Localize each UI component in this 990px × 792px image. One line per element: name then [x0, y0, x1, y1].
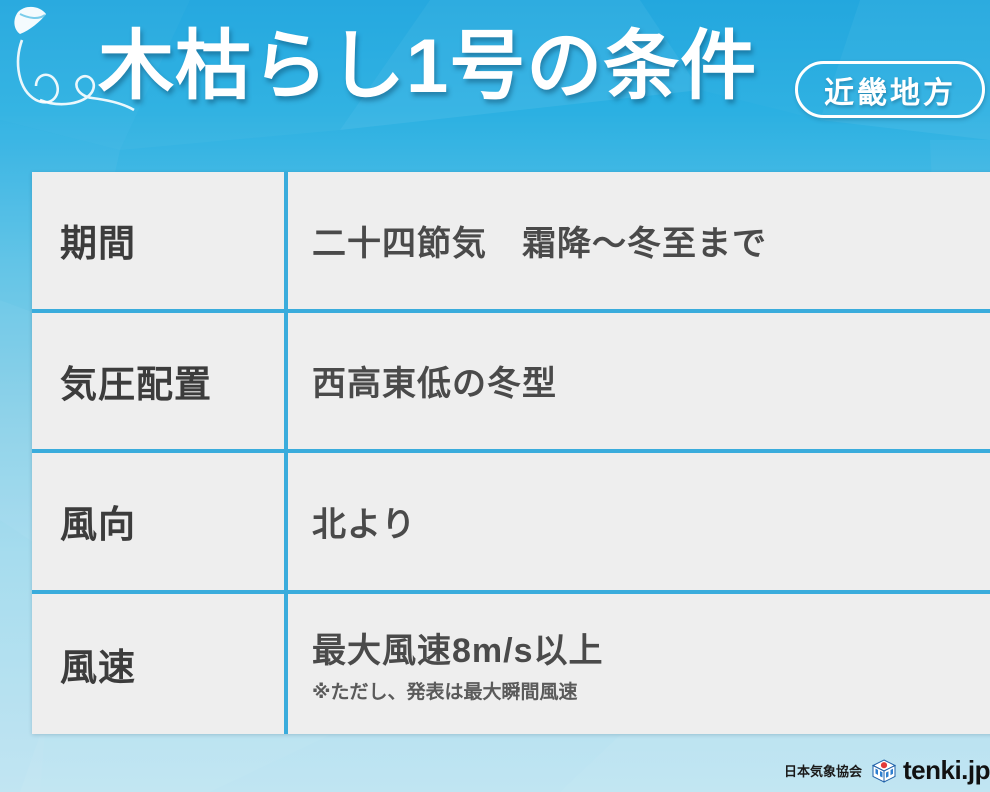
row-value-cell: 北より	[288, 453, 990, 590]
row-label-cell: 風向	[32, 453, 288, 590]
row-label-cell: 風速	[32, 594, 288, 735]
row-label: 気圧配置	[60, 354, 212, 408]
table-row: 期間 二十四節気 霜降〜冬至まで	[32, 172, 990, 313]
table-row: 風向 北より	[32, 453, 990, 594]
row-value: 二十四節気 霜降〜冬至まで	[312, 216, 990, 265]
infographic-canvas: 木枯らし1号の条件 近畿地方 期間 二十四節気 霜降〜冬至まで 気圧配置 西高東…	[0, 0, 990, 792]
table-row: 風速 最大風速8m/s以上 ※ただし、発表は最大瞬間風速	[32, 594, 990, 735]
header: 木枯らし1号の条件 近畿地方	[0, 0, 990, 160]
row-label: 風速	[60, 637, 136, 691]
tenki-cube-icon	[871, 758, 897, 784]
row-value-cell: 西高東低の冬型	[288, 313, 990, 450]
tenki-logo[interactable]: tenki.jp	[871, 755, 990, 786]
table-row: 気圧配置 西高東低の冬型	[32, 313, 990, 454]
tenki-wordmark: tenki.jp	[903, 755, 990, 786]
row-value: 最大風速8m/s以上	[312, 623, 990, 672]
footer: 日本気象協会 tenki.jp	[784, 755, 990, 786]
row-value: 北より	[312, 497, 990, 546]
row-label-cell: 気圧配置	[32, 313, 288, 450]
row-label: 期間	[60, 213, 136, 267]
row-value: 西高東低の冬型	[312, 356, 990, 405]
row-label: 風向	[60, 494, 136, 548]
region-badge-label: 近畿地方	[824, 68, 956, 112]
row-value-cell: 最大風速8m/s以上 ※ただし、発表は最大瞬間風速	[288, 594, 990, 735]
row-value-cell: 二十四節気 霜降〜冬至まで	[288, 172, 990, 309]
association-name: 日本気象協会	[784, 761, 862, 780]
row-label-cell: 期間	[32, 172, 288, 309]
region-badge: 近畿地方	[795, 61, 985, 118]
conditions-table: 期間 二十四節気 霜降〜冬至まで 気圧配置 西高東低の冬型 風向 北より	[32, 172, 990, 734]
page-title: 木枯らし1号の条件	[98, 29, 757, 105]
row-value-note: ※ただし、発表は最大瞬間風速	[312, 677, 990, 704]
